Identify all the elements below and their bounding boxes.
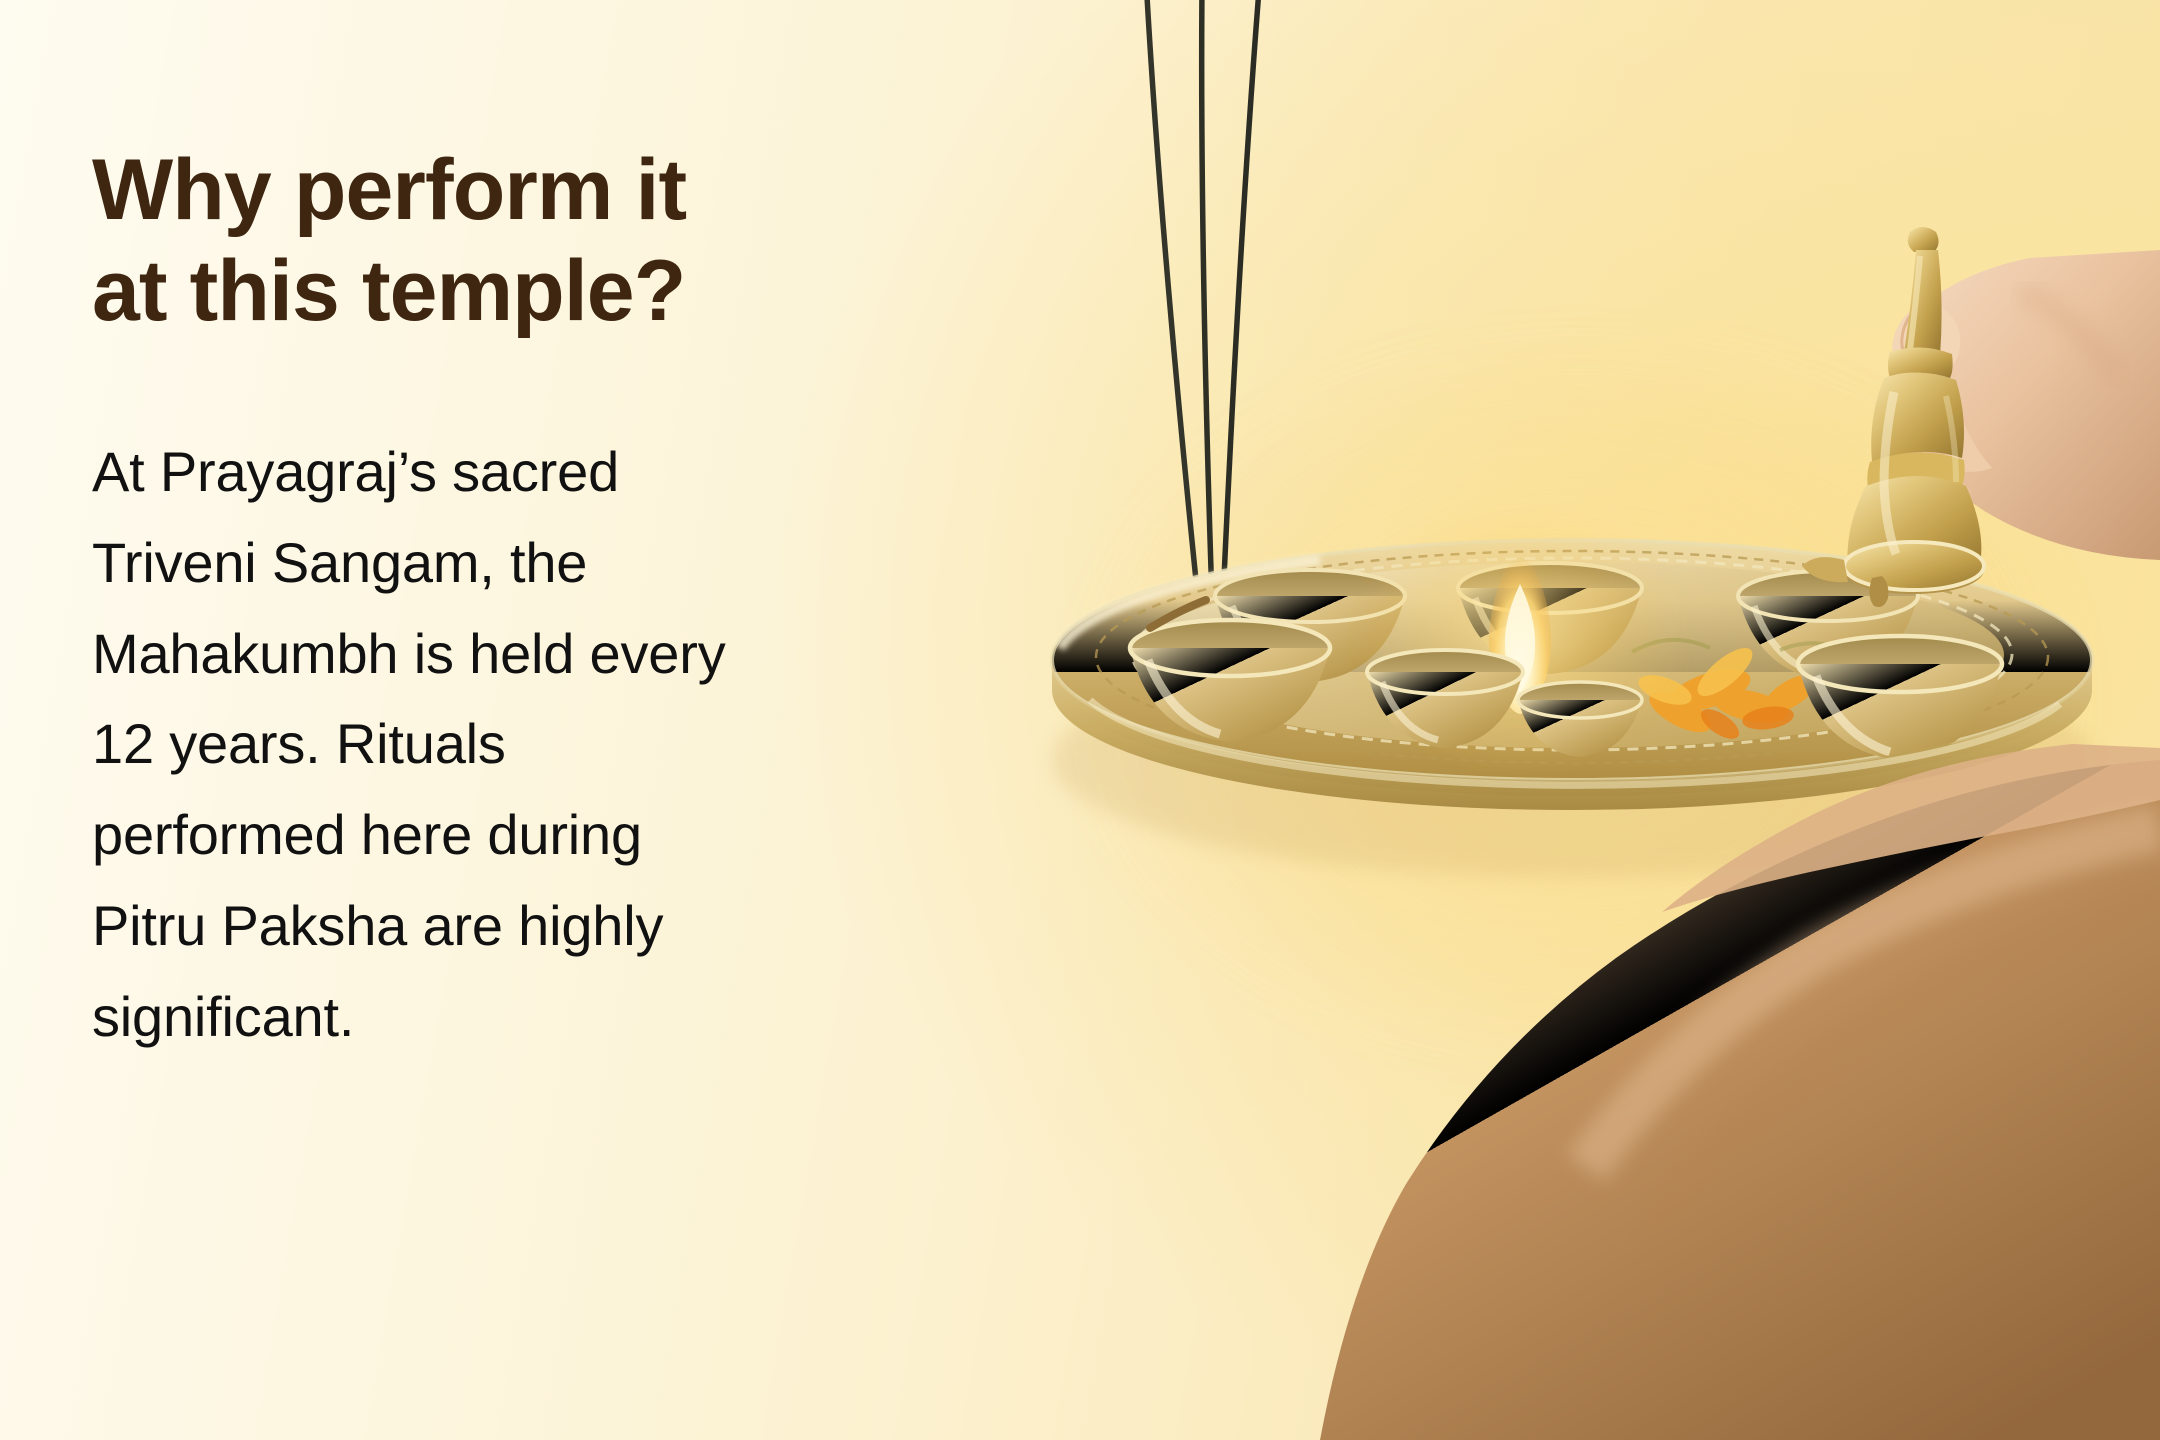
- body-paragraph: At Prayagraj’s sacred Triveni Sangam, th…: [92, 427, 1022, 1062]
- slide-root: Why perform it at this temple? At Prayag…: [0, 0, 2160, 1440]
- puja-photo: [1020, 0, 2160, 1440]
- page-title: Why perform it at this temple?: [92, 140, 992, 341]
- text-column: Why perform it at this temple? At Prayag…: [92, 140, 1092, 1062]
- puja-illustration: [1020, 0, 2160, 1440]
